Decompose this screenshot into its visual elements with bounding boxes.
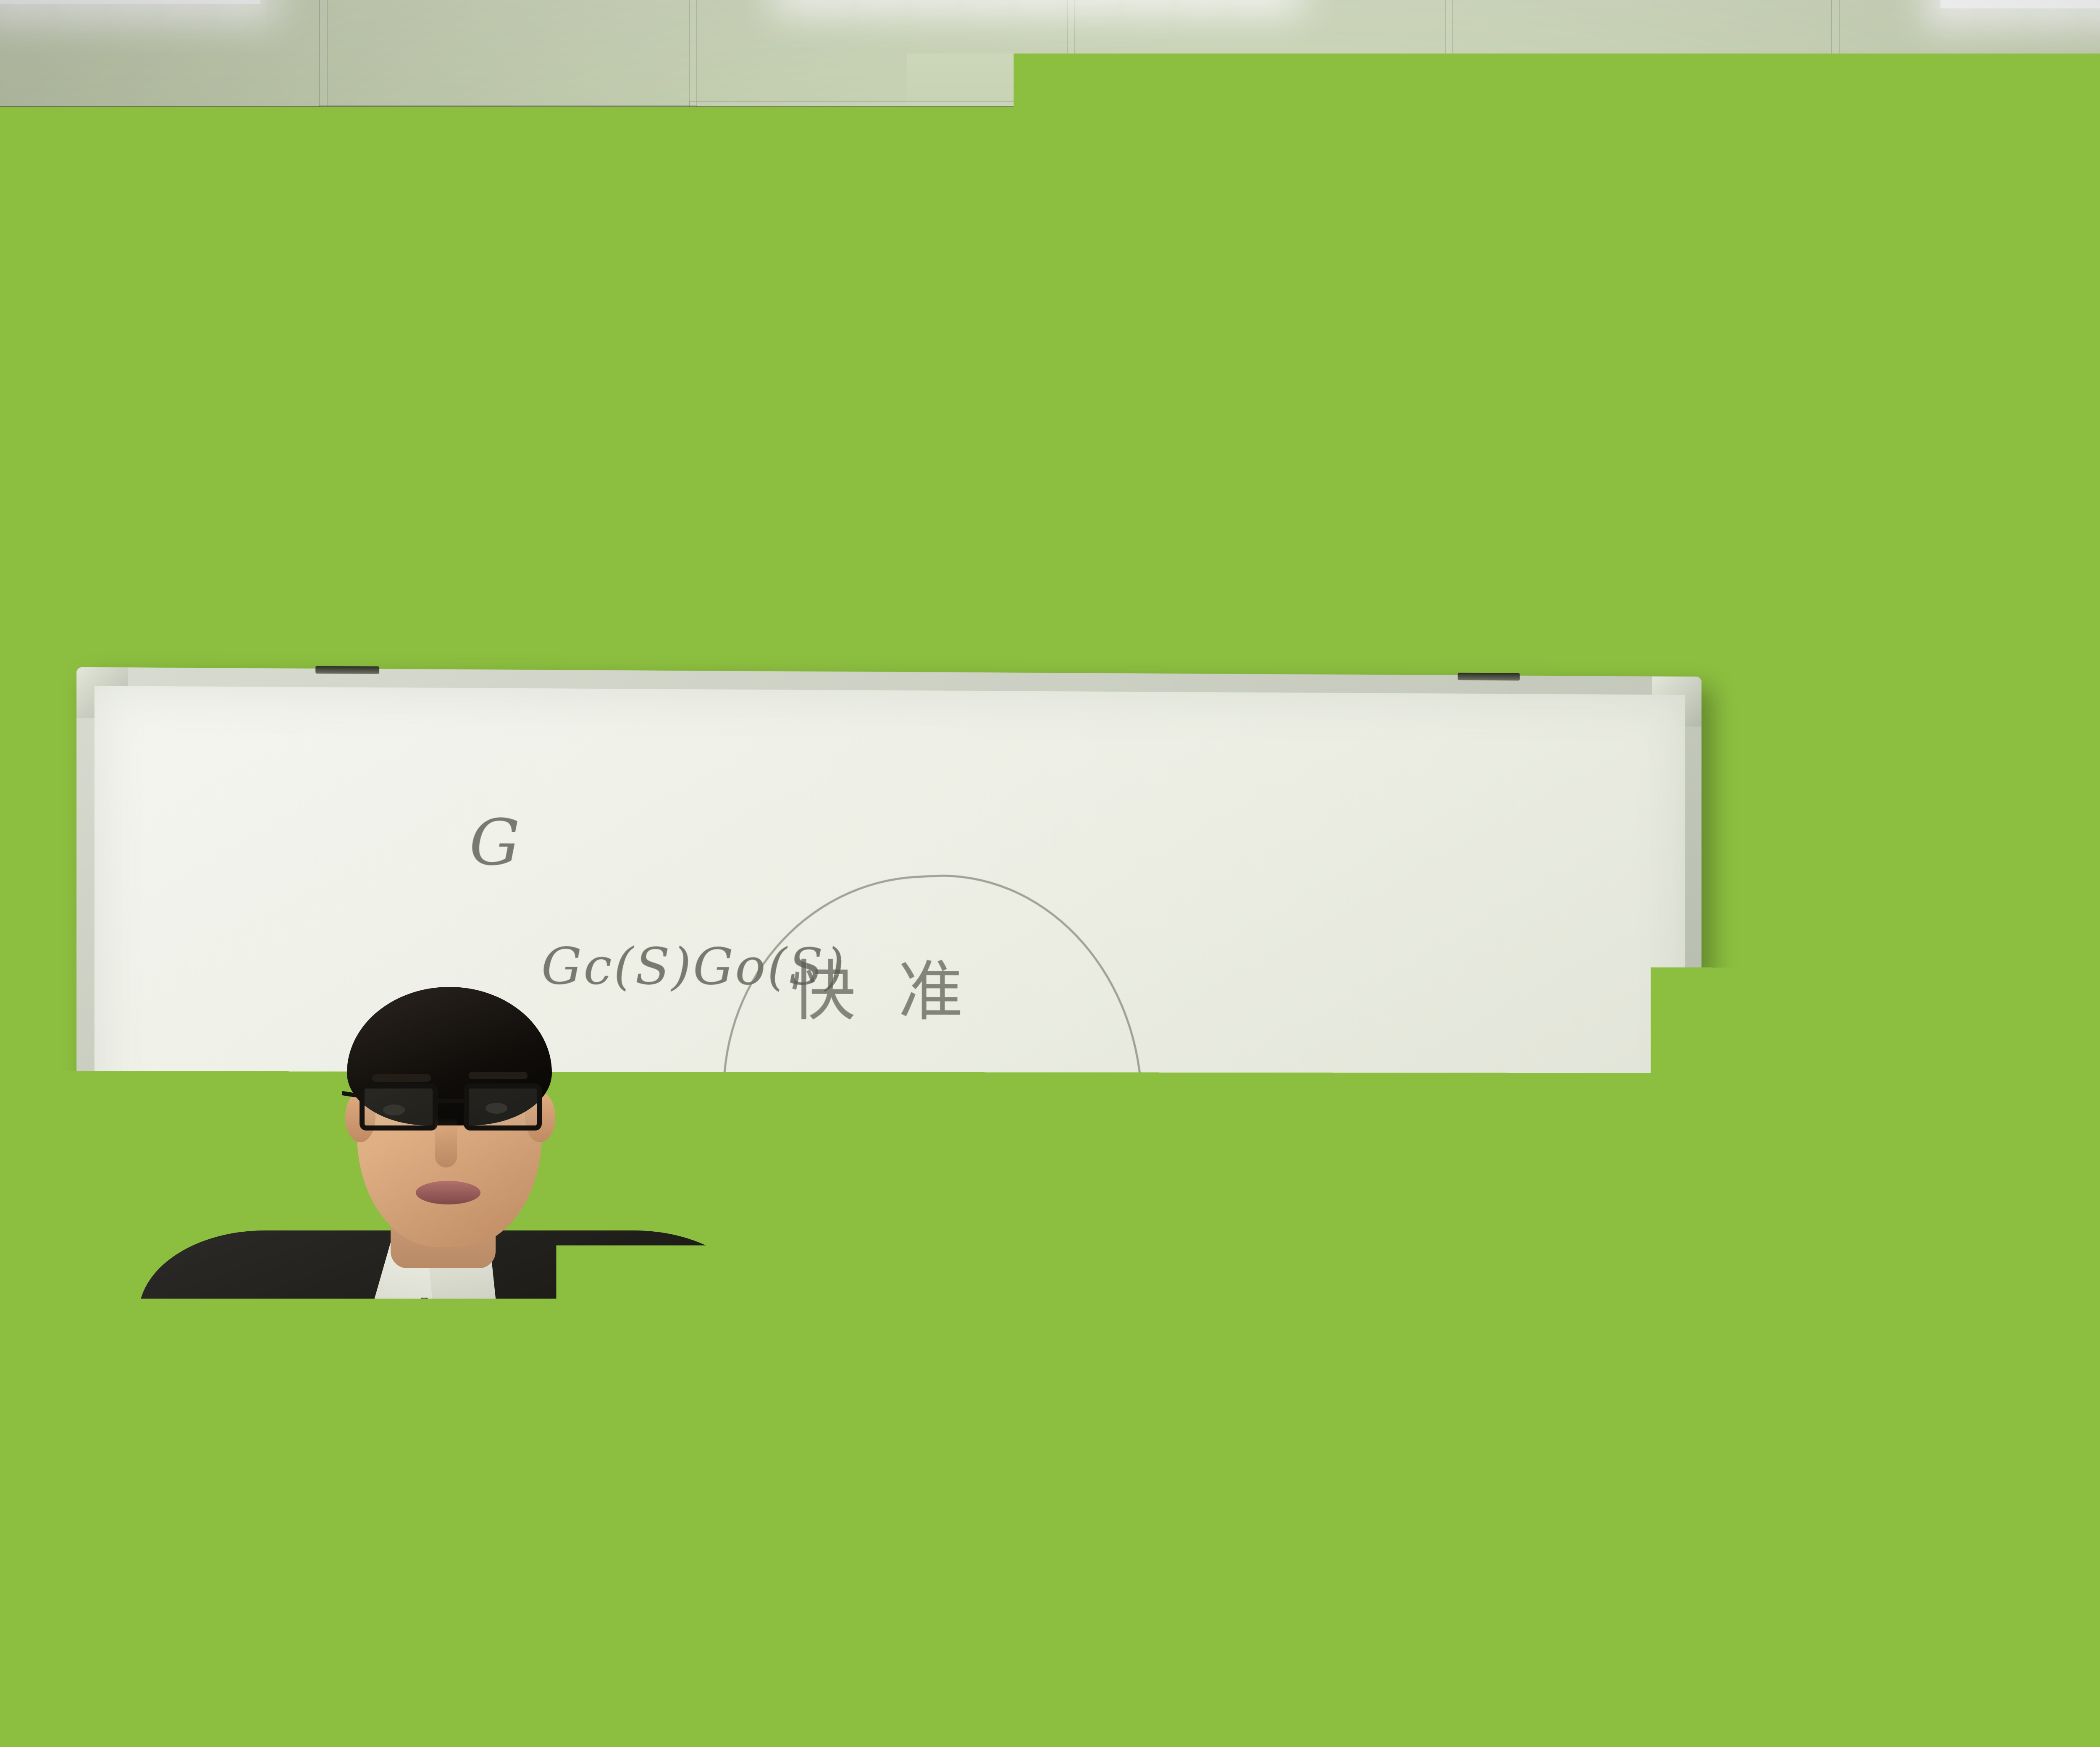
glasses-lens-left [360,1083,438,1131]
upload-arrow-icon[interactable] [1924,1458,1965,1494]
section-badge: 接入方式 [2092,998,2100,1153]
ceiling-light-panel [0,0,260,4]
handwriting-line-1: G [469,806,520,880]
lecturer-brow-left [372,1074,431,1082]
section-badge-text: 接入方式 [2094,1040,2100,1143]
slide-header: 四川大学 1896 SICHUAN UNIVERSITY 海纳百川 有容乃大 [1966,704,2100,784]
display-bottom-rail: seewo [1684,1654,2100,1709]
handwriting-circle-line-2: 稳 [858,1094,934,1188]
label-reference-input: 参考输入信号 [2041,1250,2100,1308]
whiteboard-clip [1458,673,1520,681]
panel-glare [1752,882,1937,976]
lecturer-nose [435,1117,457,1167]
camera-wall-plate [1759,291,1815,376]
sichuan-university-logo: 四川大学 1896 SICHUAN UNIVERSITY [1975,710,2047,782]
logo-emblem-icon [2002,732,2020,759]
camera-lens-icon [1738,156,1778,189]
display-top-rail [1684,643,2100,667]
whiteboard-clip [315,666,379,674]
interactive-display[interactable]: 四川大学 1896 SICHUAN UNIVERSITY 海纳百川 有容乃大 校… [1684,643,2100,1709]
play-triangle-icon[interactable] [1736,1101,1767,1131]
camera-sunshade-lip [1686,216,1825,226]
glasses-bridge [438,1099,465,1103]
wire-input-to-controller [2050,1328,2100,1332]
display-panel[interactable]: 四川大学 1896 SICHUAN UNIVERSITY 海纳百川 有容乃大 校… [1706,669,2100,1654]
label-feedback-signal: 反馈信号 [2092,1414,2100,1591]
lecturer-brow-right [469,1072,528,1079]
lecturer-mouth [416,1181,480,1204]
logo-english-text: SICHUAN UNIVERSITY [1975,774,2047,779]
whiteboard-magnet[interactable] [63,1536,89,1563]
ceiling-camera [1663,126,1840,386]
logo-inner-disc: 1896 [1987,722,2034,769]
ceiling-light-panel [1940,0,2100,8]
handwriting-circle-line-1: 快 准 [790,938,974,1033]
classroom-photo-scene: G Gc(S)Go(S) = Gc′(S) + Go(S) Go(S) + Gc… [0,0,2100,1747]
slide-content: 四川大学 1896 SICHUAN UNIVERSITY 海纳百川 有容乃大 校… [1966,704,2100,1591]
glasses-lens-right [464,1083,542,1131]
logo-year: 1896 [1987,761,2034,767]
